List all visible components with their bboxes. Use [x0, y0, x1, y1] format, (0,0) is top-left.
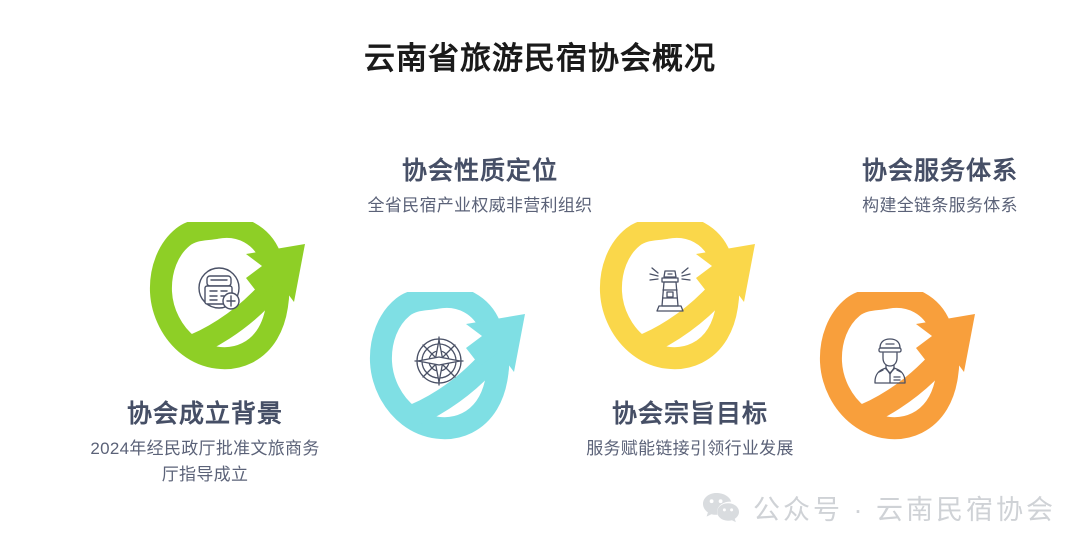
item-subtitle-1: 2024年经民政厅批准文旅商务 厅指导成立 [35, 436, 375, 489]
item-text-4: 协会服务体系 构建全链条服务体系 [795, 155, 1080, 219]
item-subtitle-2: 全省民宿产业权威非营利组织 [315, 193, 645, 219]
slide-canvas: 云南省旅游民宿协会概况 [0, 0, 1080, 539]
item-heading-2: 协会性质定位 [315, 155, 645, 188]
certificate-document-icon [191, 262, 247, 318]
page-title: 云南省旅游民宿协会概况 [0, 40, 1080, 79]
item-heading-4: 协会服务体系 [795, 155, 1080, 188]
uniformed-staff-icon [862, 332, 918, 388]
item-heading-1: 协会成立背景 [35, 398, 375, 431]
item-subtitle-1-line1: 2024年经民政厅批准文旅商务 [35, 436, 375, 462]
item-graphic-3 [592, 222, 807, 392]
wechat-icon [701, 491, 741, 525]
watermark: 公众号 · 云南民宿协会 [701, 488, 1056, 527]
blob-arrow-yellow [592, 222, 807, 392]
item-heading-3: 协会宗旨目标 [525, 398, 855, 431]
compass-rose-icon [412, 334, 466, 388]
lighthouse-icon [642, 262, 698, 318]
item-text-3: 协会宗旨目标 服务赋能链接引领行业发展 [525, 398, 855, 462]
blob-arrow-green [142, 222, 357, 392]
item-text-2: 协会性质定位 全省民宿产业权威非营利组织 [315, 155, 645, 219]
item-text-1: 协会成立背景 2024年经民政厅批准文旅商务 厅指导成立 [35, 398, 375, 488]
item-subtitle-1-line2: 厅指导成立 [35, 462, 375, 488]
item-subtitle-4: 构建全链条服务体系 [795, 193, 1080, 219]
watermark-text: 公众号 · 云南民宿协会 [753, 488, 1056, 527]
item-subtitle-3: 服务赋能链接引领行业发展 [525, 436, 855, 462]
item-graphic-1 [142, 222, 357, 392]
